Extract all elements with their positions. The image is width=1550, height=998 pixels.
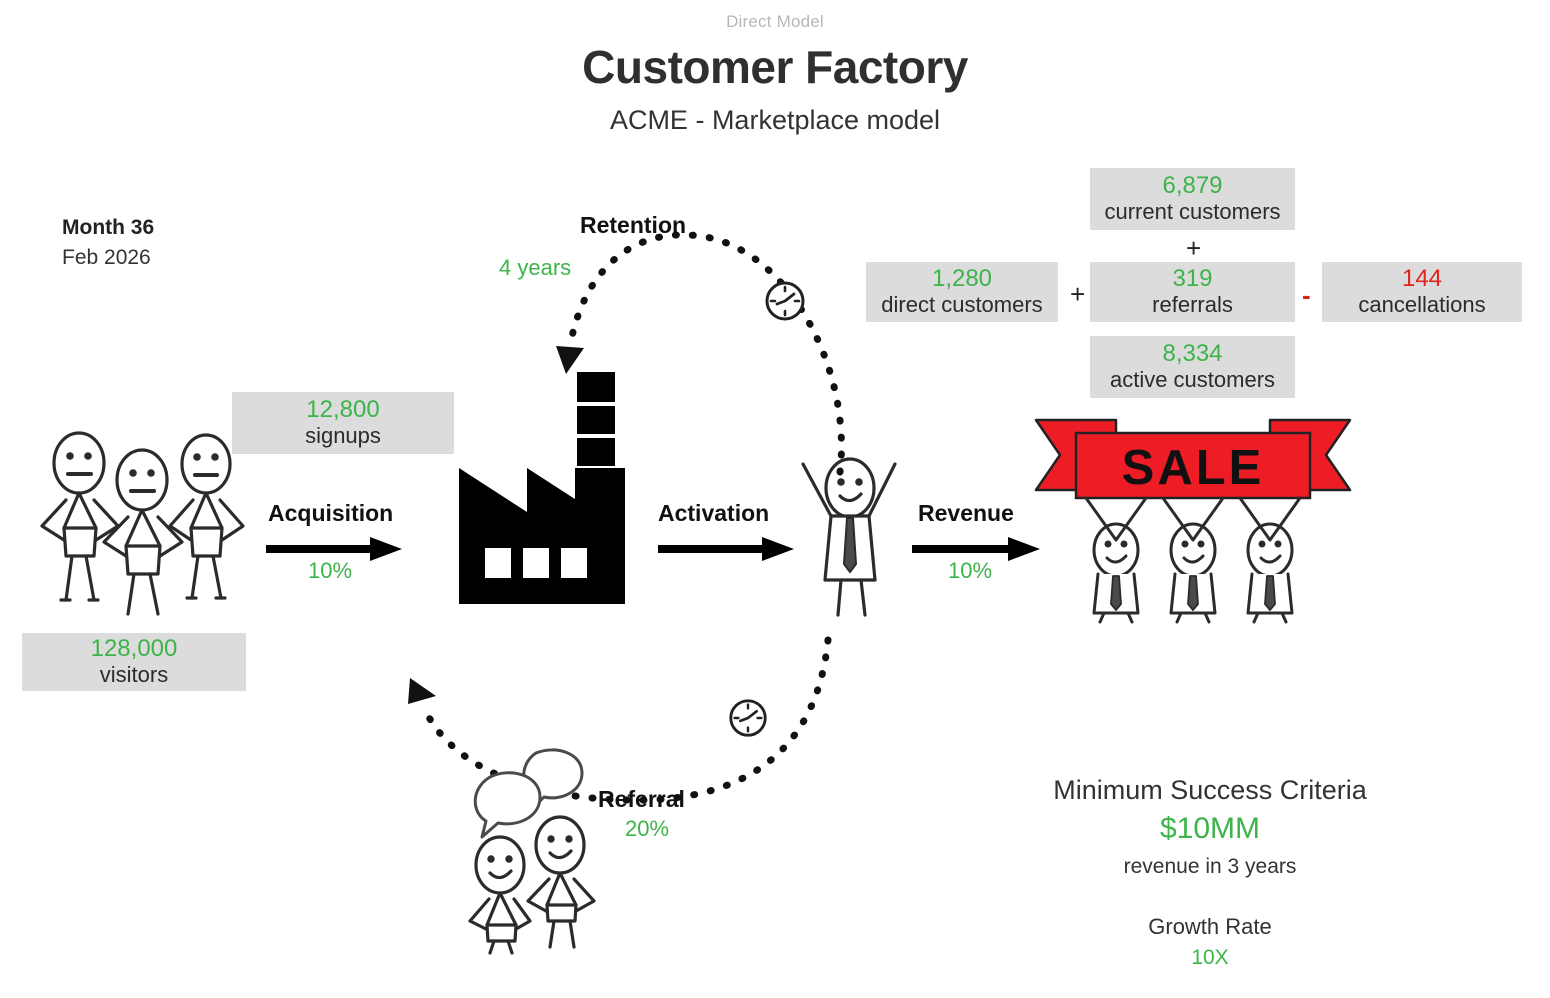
operator-minus-cancellations: -	[1302, 280, 1311, 311]
page-subtitle: ACME - Marketplace model	[0, 105, 1550, 136]
success-criteria-title: Minimum Success Criteria	[1040, 775, 1380, 806]
metric-referrals-caption: referrals	[1152, 293, 1233, 318]
cheering-person-icon	[795, 452, 905, 617]
metric-active-customers-value: 8,334	[1162, 341, 1222, 368]
metric-visitors: 128,000 visitors	[22, 633, 246, 691]
growth-rate-label: Growth Rate	[1040, 914, 1380, 940]
metric-visitors-caption: visitors	[100, 663, 168, 688]
metric-active-customers: 8,334 active customers	[1090, 336, 1295, 398]
metric-referrals: 319 referrals	[1090, 262, 1295, 322]
retention-loop-path	[540, 222, 860, 482]
three-people-holding-banner-icon: SALE	[1028, 408, 1358, 623]
metric-cancellations-caption: cancellations	[1358, 293, 1485, 318]
metric-direct-customers-caption: direct customers	[881, 293, 1042, 318]
metric-signups: 12,800 signups	[232, 392, 454, 454]
metric-cancellations-value: 144	[1402, 266, 1442, 293]
metric-direct-customers: 1,280 direct customers	[866, 262, 1058, 322]
page-title: Customer Factory	[0, 40, 1550, 94]
referral-rate: 20%	[625, 816, 669, 842]
acquisition-rate: 10%	[308, 558, 352, 584]
growth-rate-value: 10X	[1040, 946, 1380, 970]
metric-referrals-value: 319	[1172, 266, 1212, 293]
clock-icon	[762, 278, 808, 324]
stage-label-referral: Referral	[598, 786, 685, 813]
metric-signups-caption: signups	[305, 424, 381, 449]
metric-current-customers: 6,879 current customers	[1090, 168, 1295, 230]
success-criteria-subtitle: revenue in 3 years	[1040, 855, 1380, 879]
deck-label: Direct Model	[0, 12, 1550, 32]
metric-cancellations: 144 cancellations	[1322, 262, 1522, 322]
sale-text: SALE	[1122, 441, 1265, 495]
three-people-icon	[34, 428, 249, 613]
stage-label-retention: Retention	[580, 212, 686, 239]
month-date: Feb 2026	[62, 246, 151, 270]
stage-label-acquisition: Acquisition	[268, 500, 393, 527]
stage-label-activation: Activation	[658, 500, 769, 527]
metric-current-customers-caption: current customers	[1104, 200, 1280, 225]
metric-direct-customers-value: 1,280	[932, 266, 992, 293]
revenue-rate: 10%	[948, 558, 992, 584]
activation-arrow-icon	[658, 536, 794, 562]
metric-visitors-value: 128,000	[91, 636, 178, 663]
operator-plus-direct: +	[1070, 279, 1085, 310]
slide-canvas: Direct Model Customer Factory ACME - Mar…	[0, 0, 1550, 998]
stage-label-revenue: Revenue	[918, 500, 1014, 527]
clock-icon	[726, 696, 770, 740]
operator-plus-current: +	[1186, 233, 1201, 264]
month-label: Month 36	[62, 216, 154, 240]
metric-active-customers-caption: active customers	[1110, 368, 1275, 393]
success-criteria-value: $10MM	[1040, 812, 1380, 846]
metric-current-customers-value: 6,879	[1162, 173, 1222, 200]
two-people-talking-icon	[460, 735, 610, 955]
retention-rate: 4 years	[499, 255, 571, 281]
metric-signups-value: 12,800	[306, 397, 379, 424]
